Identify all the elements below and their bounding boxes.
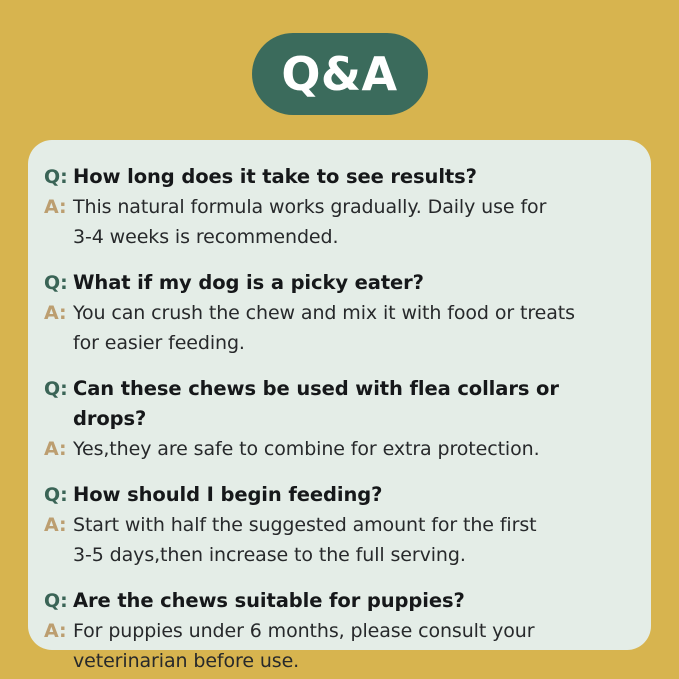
question-text: Can these chews be used with flea collar… bbox=[73, 374, 625, 434]
answer-text: This natural formula works gradually. Da… bbox=[73, 192, 546, 252]
question-text: Are the chews suitable for puppies? bbox=[73, 586, 465, 616]
answer-text-line-1: This natural formula works gradually. Da… bbox=[73, 196, 546, 218]
qa-answer-line: A: For puppies under 6 months, please co… bbox=[44, 616, 625, 676]
qa-question-line: Q: Can these chews be used with flea col… bbox=[44, 374, 625, 434]
qa-item: Q: Are the chews suitable for puppies? A… bbox=[44, 586, 625, 676]
answer-text-line-2: 3-5 days,then increase to the full servi… bbox=[73, 540, 536, 570]
question-marker: Q: bbox=[44, 162, 73, 192]
qa-answer-line: A: This natural formula works gradually.… bbox=[44, 192, 625, 252]
question-text: How long does it take to see results? bbox=[73, 162, 477, 192]
qa-question-line: Q: How should I begin feeding? bbox=[44, 480, 625, 510]
question-marker: Q: bbox=[44, 374, 73, 404]
answer-text-line-1: You can crush the chew and mix it with f… bbox=[73, 302, 575, 324]
answer-marker: A: bbox=[44, 510, 73, 540]
qa-item: Q: How should I begin feeding? A: Start … bbox=[44, 480, 625, 570]
answer-marker: A: bbox=[44, 616, 73, 646]
qa-question-line: Q: How long does it take to see results? bbox=[44, 162, 625, 192]
answer-text-line-1: For puppies under 6 months, please consu… bbox=[73, 620, 534, 642]
answer-marker: A: bbox=[44, 298, 73, 328]
qa-header-badge-label: Q&A bbox=[281, 51, 397, 97]
qa-header-badge: Q&A bbox=[252, 33, 428, 115]
answer-text-line-1: Yes,they are safe to combine for extra p… bbox=[73, 438, 540, 460]
question-text: What if my dog is a picky eater? bbox=[73, 268, 424, 298]
qa-question-line: Q: What if my dog is a picky eater? bbox=[44, 268, 625, 298]
answer-text-line-1: Start with half the suggested amount for… bbox=[73, 514, 536, 536]
answer-text-line-2: for easier feeding. bbox=[73, 328, 575, 358]
qa-answer-line: A: You can crush the chew and mix it wit… bbox=[44, 298, 625, 358]
qa-list: Q: How long does it take to see results?… bbox=[44, 162, 625, 676]
qa-item: Q: Can these chews be used with flea col… bbox=[44, 374, 625, 464]
answer-text-line-2: veterinarian before use. bbox=[73, 646, 534, 676]
qa-question-line: Q: Are the chews suitable for puppies? bbox=[44, 586, 625, 616]
answer-text: Start with half the suggested amount for… bbox=[73, 510, 536, 570]
qa-header-badge-container: Q&A bbox=[0, 33, 679, 115]
answer-text-line-2: 3-4 weeks is recommended. bbox=[73, 222, 546, 252]
question-marker: Q: bbox=[44, 586, 73, 616]
qa-answer-line: A: Yes,they are safe to combine for extr… bbox=[44, 434, 625, 464]
question-marker: Q: bbox=[44, 268, 73, 298]
qa-item: Q: How long does it take to see results?… bbox=[44, 162, 625, 252]
answer-marker: A: bbox=[44, 192, 73, 222]
question-text: How should I begin feeding? bbox=[73, 480, 382, 510]
answer-text: Yes,they are safe to combine for extra p… bbox=[73, 434, 540, 464]
question-marker: Q: bbox=[44, 480, 73, 510]
qa-card: Q: How long does it take to see results?… bbox=[28, 140, 651, 650]
answer-text: You can crush the chew and mix it with f… bbox=[73, 298, 575, 358]
qa-answer-line: A: Start with half the suggested amount … bbox=[44, 510, 625, 570]
answer-text: For puppies under 6 months, please consu… bbox=[73, 616, 534, 676]
answer-marker: A: bbox=[44, 434, 73, 464]
qa-item: Q: What if my dog is a picky eater? A: Y… bbox=[44, 268, 625, 358]
